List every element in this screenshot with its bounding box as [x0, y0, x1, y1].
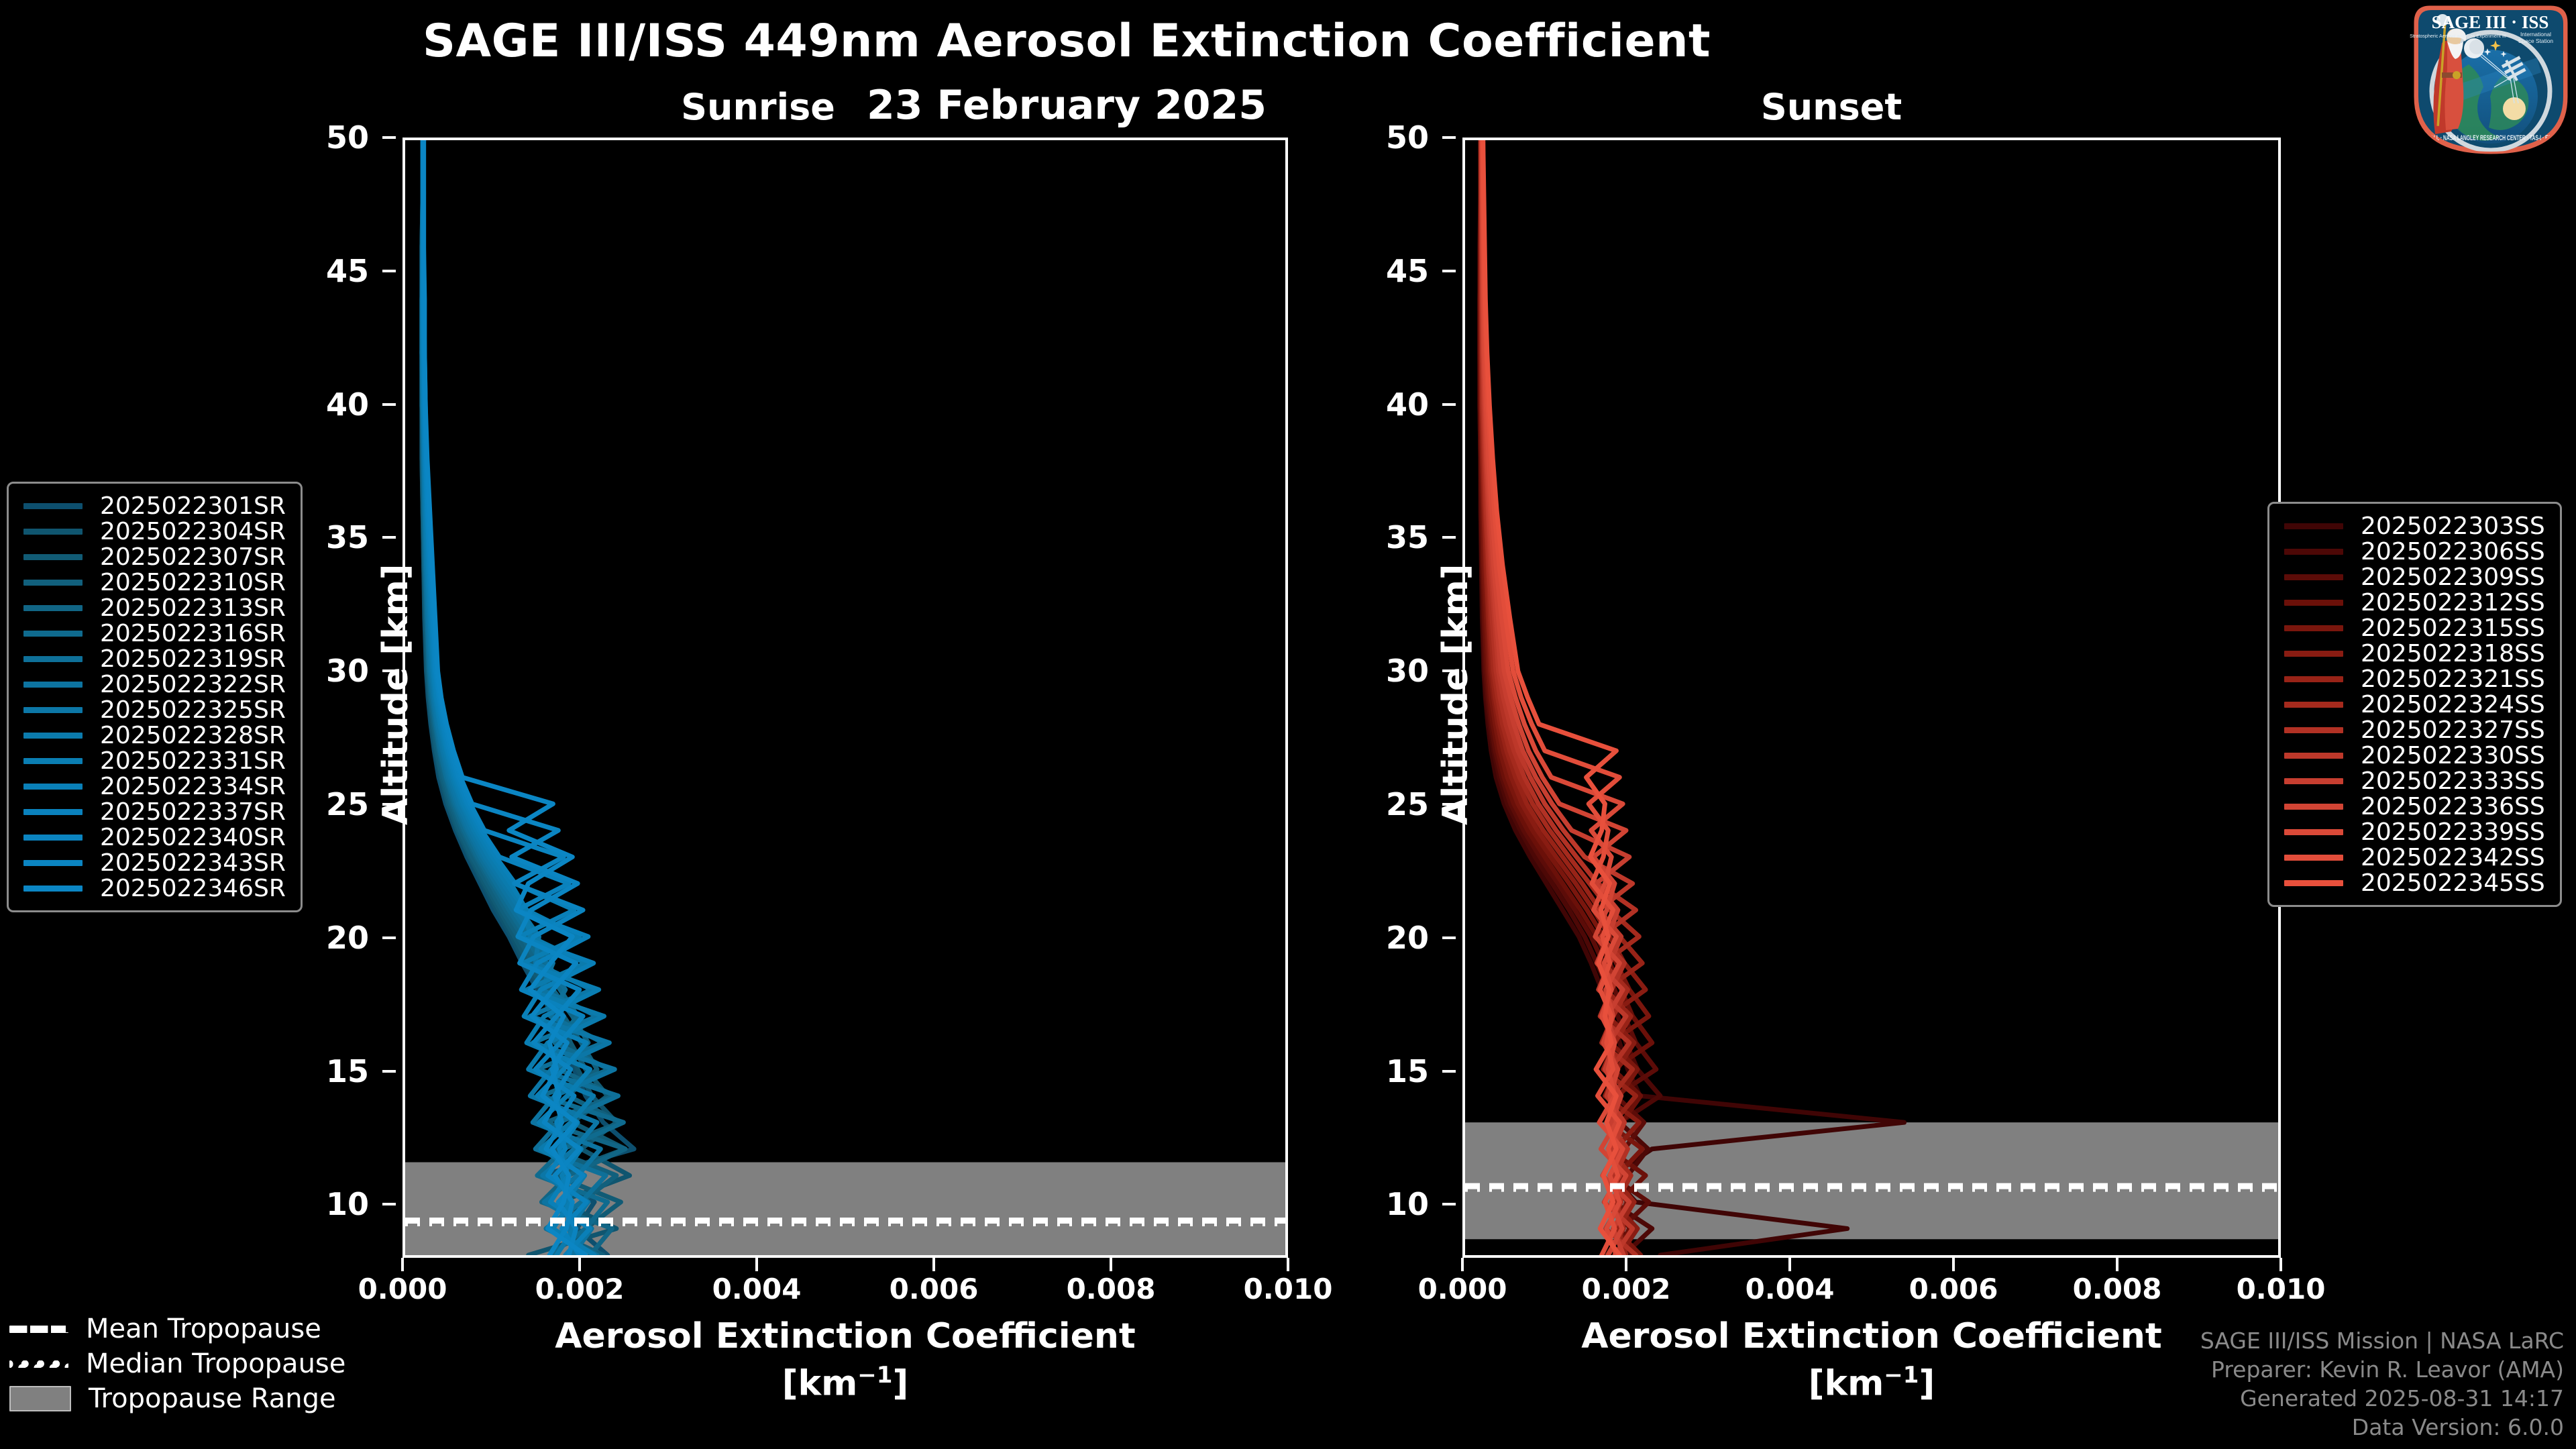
legend-label: 2025022315SS [2361, 614, 2545, 642]
page-title: SAGE III/ISS 449nm Aerosol Extinction Co… [0, 15, 2133, 68]
sunset-plot-area [1465, 140, 2278, 1255]
credits-line-mission: SAGE III/ISS Mission | NASA LaRC [2200, 1327, 2564, 1356]
line-color-swatch-icon [23, 860, 83, 866]
legend-label: Median Tropopause [86, 1348, 345, 1379]
sunrise-curves [405, 140, 1285, 1255]
x-tick-mark [1952, 1258, 1955, 1271]
x-tick-mark [1461, 1258, 1464, 1271]
y-tick-label: 50 [288, 119, 369, 156]
line-color-swatch-icon [23, 809, 83, 815]
sunset-legend-item: 2025022324SS [2284, 692, 2545, 717]
sunset-curves [1465, 140, 2278, 1255]
x-tick-label: 0.008 [2073, 1273, 2162, 1305]
sunset-legend-item: 2025022336SS [2284, 794, 2545, 819]
line-color-swatch-icon [23, 885, 83, 892]
line-color-swatch-icon [2284, 574, 2343, 580]
legend-label: 2025022325SR [100, 696, 286, 724]
x-tick-label: 0.006 [890, 1273, 979, 1305]
legend-label: 2025022331SR [100, 747, 286, 775]
y-tick-mark [1442, 136, 1456, 139]
x-tick-mark [755, 1258, 758, 1271]
sunset-legend-item: 2025022339SS [2284, 819, 2545, 845]
sunrise-legend-item: 2025022307SR [23, 544, 286, 570]
x-tick-label: 0.010 [2237, 1273, 2326, 1305]
line-color-swatch-icon [2284, 625, 2343, 631]
sunrise-legend-item: 2025022316SR [23, 621, 286, 646]
line-color-swatch-icon [23, 656, 83, 662]
legend-label: 2025022313SR [100, 594, 286, 622]
credits-line-generated: Generated 2025-08-31 14:17 [2200, 1385, 2564, 1413]
sunset-legend-item: 2025022342SS [2284, 845, 2545, 870]
credits-block: SAGE III/ISS Mission | NASA LaRC Prepare… [2200, 1327, 2564, 1442]
line-color-swatch-icon [23, 682, 83, 688]
sunrise-legend-item: 2025022343SR [23, 850, 286, 875]
sunrise-xaxis-units: [km−1] [402, 1362, 1288, 1403]
x-tick-label: 0.004 [712, 1273, 802, 1305]
line-color-swatch-icon [2284, 804, 2343, 810]
legend-label: 2025022324SS [2361, 691, 2545, 718]
legend-item-mean-tropopause: Mean Tropopause [9, 1311, 345, 1346]
legend-label: 2025022322SR [100, 671, 286, 698]
sunrise-legend-item: 2025022337SR [23, 799, 286, 824]
y-tick-mark [382, 270, 396, 272]
sunrise-legend-item: 2025022328SR [23, 722, 286, 748]
sunrise-yaxis-title: Altitude [km] [376, 563, 416, 825]
sunset-legend-item: 2025022309SS [2284, 564, 2545, 590]
y-tick-label: 15 [1348, 1053, 1429, 1089]
line-color-swatch-icon [23, 733, 83, 739]
patch-subtitle-right-2: Space Station [2518, 38, 2553, 44]
x-tick-mark [2279, 1258, 2282, 1271]
profile-line [423, 140, 598, 1255]
sunset-legend-item: 2025022303SS [2284, 513, 2545, 539]
line-color-swatch-icon [23, 835, 83, 841]
line-color-swatch-icon [23, 554, 83, 560]
legend-label: 2025022330SS [2361, 742, 2545, 769]
y-tick-mark [382, 136, 396, 139]
sunrise-legend-item: 2025022322SR [23, 672, 286, 697]
y-tick-label: 40 [1348, 386, 1429, 423]
y-tick-mark [1442, 270, 1456, 272]
y-tick-mark [1442, 1203, 1456, 1205]
legend-label: 2025022337SR [100, 798, 286, 826]
sunrise-legend-item: 2025022340SR [23, 824, 286, 850]
y-tick-label: 45 [288, 253, 369, 289]
patch-subtitle-left: Stratospheric Aerosol and Gas Experiment… [2410, 33, 2506, 39]
legend-label: 2025022307SR [100, 543, 286, 571]
y-tick-mark [382, 403, 396, 406]
sunrise-legend-item: 2025022301SR [23, 493, 286, 519]
line-color-swatch-icon [2284, 855, 2343, 861]
legend-label: 2025022327SS [2361, 716, 2545, 744]
line-color-swatch-icon [23, 503, 83, 509]
x-tick-mark [1625, 1258, 1627, 1271]
patch-title: SAGE III · ISS [2432, 12, 2549, 32]
legend-label: 2025022336SS [2361, 793, 2545, 820]
legend-label: 2025022346SR [100, 875, 286, 902]
credits-line-version: Data Version: 6.0.0 [2200, 1413, 2564, 1442]
legend-label: 2025022303SS [2361, 513, 2545, 540]
sunrise-legend-item: 2025022319SR [23, 646, 286, 672]
legend-label: 2025022312SS [2361, 589, 2545, 616]
line-color-swatch-icon [2284, 523, 2343, 529]
line-color-swatch-icon [23, 605, 83, 611]
sunset-xaxis-title: Aerosol Extinction Coefficient [1462, 1316, 2281, 1356]
x-tick-mark [1788, 1258, 1791, 1271]
legend-label: 2025022319SR [100, 645, 286, 673]
x-tick-mark [932, 1258, 935, 1271]
legend-label: 2025022306SS [2361, 538, 2545, 566]
legend-label: 2025022310SR [100, 569, 286, 596]
line-color-swatch-icon [2284, 753, 2343, 759]
x-tick-label: 0.000 [358, 1273, 447, 1305]
y-tick-label: 20 [1348, 920, 1429, 956]
legend-label: 2025022321SS [2361, 665, 2545, 693]
line-color-swatch-icon [2284, 829, 2343, 835]
legend-label: 2025022301SR [100, 492, 286, 520]
sunset-legend-item: 2025022321SS [2284, 666, 2545, 692]
y-tick-mark [1442, 536, 1456, 539]
line-color-swatch-icon [23, 784, 83, 790]
line-color-swatch-icon [23, 529, 83, 535]
profile-line [424, 140, 580, 1255]
legend-label: 2025022339SS [2361, 818, 2545, 846]
sunrise-legend-item: 2025022304SR [23, 519, 286, 544]
sage-iii-iss-mission-patch-icon: BALL · NASA LANGLEY RESEARCH CENTER · TA… [2410, 3, 2571, 157]
legend-label: Tropopause Range [89, 1383, 336, 1414]
x-tick-label: 0.002 [535, 1273, 625, 1305]
gray-band-icon [9, 1386, 71, 1411]
sunset-legend-item: 2025022315SS [2284, 615, 2545, 641]
patch-arc-text: BALL · NASA LANGLEY RESEARCH CENTER · TA… [2427, 134, 2555, 142]
legend-label: 2025022342SS [2361, 844, 2545, 871]
line-color-swatch-icon [23, 707, 83, 713]
line-color-swatch-icon [2284, 702, 2343, 708]
y-tick-label: 40 [288, 386, 369, 423]
legend-label: 2025022318SS [2361, 640, 2545, 667]
y-tick-label: 10 [1348, 1186, 1429, 1222]
sunrise-xaxis-title: Aerosol Extinction Coefficient [402, 1316, 1288, 1356]
legend-label: Mean Tropopause [86, 1313, 321, 1344]
legend-label: 2025022334SR [100, 773, 286, 800]
x-tick-label: 0.002 [1582, 1273, 1671, 1305]
y-tick-mark [382, 536, 396, 539]
sunrise-plot-panel [402, 138, 1288, 1258]
legend-item-median-tropopause: Median Tropopause [9, 1346, 345, 1381]
sunset-yaxis-title: Altitude [km] [1436, 563, 1476, 825]
sunrise-panel-label: Sunrise [657, 86, 859, 128]
x-tick-label: 0.004 [1746, 1273, 1835, 1305]
sunset-legend-item: 2025022327SS [2284, 717, 2545, 743]
legend-label: 2025022309SS [2361, 563, 2545, 591]
sunset-legend: 2025022303SS2025022306SS2025022309SS2025… [2267, 502, 2562, 907]
legend-label: 2025022340SR [100, 824, 286, 851]
line-color-swatch-icon [23, 758, 83, 764]
x-tick-label: 0.008 [1067, 1273, 1156, 1305]
tropopause-range-band [1465, 1122, 2278, 1239]
line-color-swatch-icon [2284, 676, 2343, 682]
sunrise-legend-item: 2025022325SR [23, 697, 286, 722]
sunrise-plot-area [405, 140, 1285, 1255]
dashed-line-icon [9, 1326, 68, 1333]
y-tick-mark [1442, 1070, 1456, 1073]
line-color-swatch-icon [2284, 651, 2343, 657]
profile-line [1480, 140, 1904, 1255]
credits-line-preparer: Preparer: Kevin R. Leavor (AMA) [2200, 1356, 2564, 1385]
line-color-swatch-icon [2284, 778, 2343, 784]
line-color-swatch-icon [2284, 549, 2343, 555]
sunrise-legend-item: 2025022313SR [23, 595, 286, 621]
x-tick-mark [1110, 1258, 1112, 1271]
legend-label: 2025022345SS [2361, 869, 2545, 897]
legend-label: 2025022328SR [100, 722, 286, 749]
y-tick-label: 35 [1348, 519, 1429, 555]
x-tick-mark [2116, 1258, 2118, 1271]
x-tick-label: 0.000 [1418, 1273, 1507, 1305]
x-tick-mark [578, 1258, 581, 1271]
line-color-swatch-icon [2284, 600, 2343, 606]
sunrise-legend-item: 2025022310SR [23, 570, 286, 595]
sunset-legend-item: 2025022333SS [2284, 768, 2545, 794]
y-tick-label: 15 [288, 1053, 369, 1089]
y-tick-label: 50 [1348, 119, 1429, 156]
sunset-plot-panel [1462, 138, 2281, 1258]
legend-label: 2025022316SR [100, 620, 286, 647]
y-tick-label: 45 [1348, 253, 1429, 289]
sunset-legend-item: 2025022312SS [2284, 590, 2545, 615]
sunrise-legend-item: 2025022346SR [23, 875, 286, 901]
legend-item-tropopause-range: Tropopause Range [9, 1381, 345, 1416]
y-tick-label: 10 [288, 1186, 369, 1222]
y-tick-label: 20 [288, 920, 369, 956]
line-color-swatch-icon [23, 580, 83, 586]
y-tick-mark [382, 936, 396, 939]
x-tick-mark [1287, 1258, 1289, 1271]
line-color-swatch-icon [2284, 880, 2343, 886]
legend-label: 2025022304SR [100, 518, 286, 545]
x-tick-mark [401, 1258, 404, 1271]
sunset-panel-label: Sunset [1731, 86, 1932, 128]
sunset-legend-item: 2025022330SS [2284, 743, 2545, 768]
sunrise-legend: 2025022301SR2025022304SR2025022307SR2025… [7, 482, 303, 912]
sunset-legend-item: 2025022345SS [2284, 870, 2545, 896]
x-tick-label: 0.010 [1244, 1273, 1333, 1305]
dotted-line-icon [9, 1360, 68, 1368]
legend-label: 2025022343SR [100, 849, 286, 877]
sunset-xaxis-units: [km−1] [1462, 1362, 2281, 1403]
sunrise-legend-item: 2025022331SR [23, 748, 286, 773]
y-tick-label: 30 [1348, 653, 1429, 689]
x-tick-label: 0.006 [1909, 1273, 1998, 1305]
profile-line [422, 140, 619, 1255]
sunrise-x-axis: 0.0000.0020.0040.0060.0080.010 [402, 1258, 1288, 1318]
y-tick-mark [382, 1203, 396, 1205]
sunset-x-axis: 0.0000.0020.0040.0060.0080.010 [1462, 1258, 2281, 1318]
y-tick-mark [1442, 403, 1456, 406]
profile-line [423, 140, 588, 1255]
line-color-swatch-icon [2284, 727, 2343, 733]
y-tick-label: 25 [1348, 786, 1429, 822]
line-color-swatch-icon [23, 631, 83, 637]
tropopause-legend: Mean Tropopause Median Tropopause Tropop… [9, 1311, 345, 1416]
sunrise-legend-item: 2025022334SR [23, 773, 286, 799]
patch-subtitle-right-1: International [2520, 31, 2551, 38]
sunset-legend-item: 2025022318SS [2284, 641, 2545, 666]
y-tick-mark [382, 1070, 396, 1073]
y-tick-mark [1442, 936, 1456, 939]
sunset-legend-item: 2025022306SS [2284, 539, 2545, 564]
legend-label: 2025022333SS [2361, 767, 2545, 795]
